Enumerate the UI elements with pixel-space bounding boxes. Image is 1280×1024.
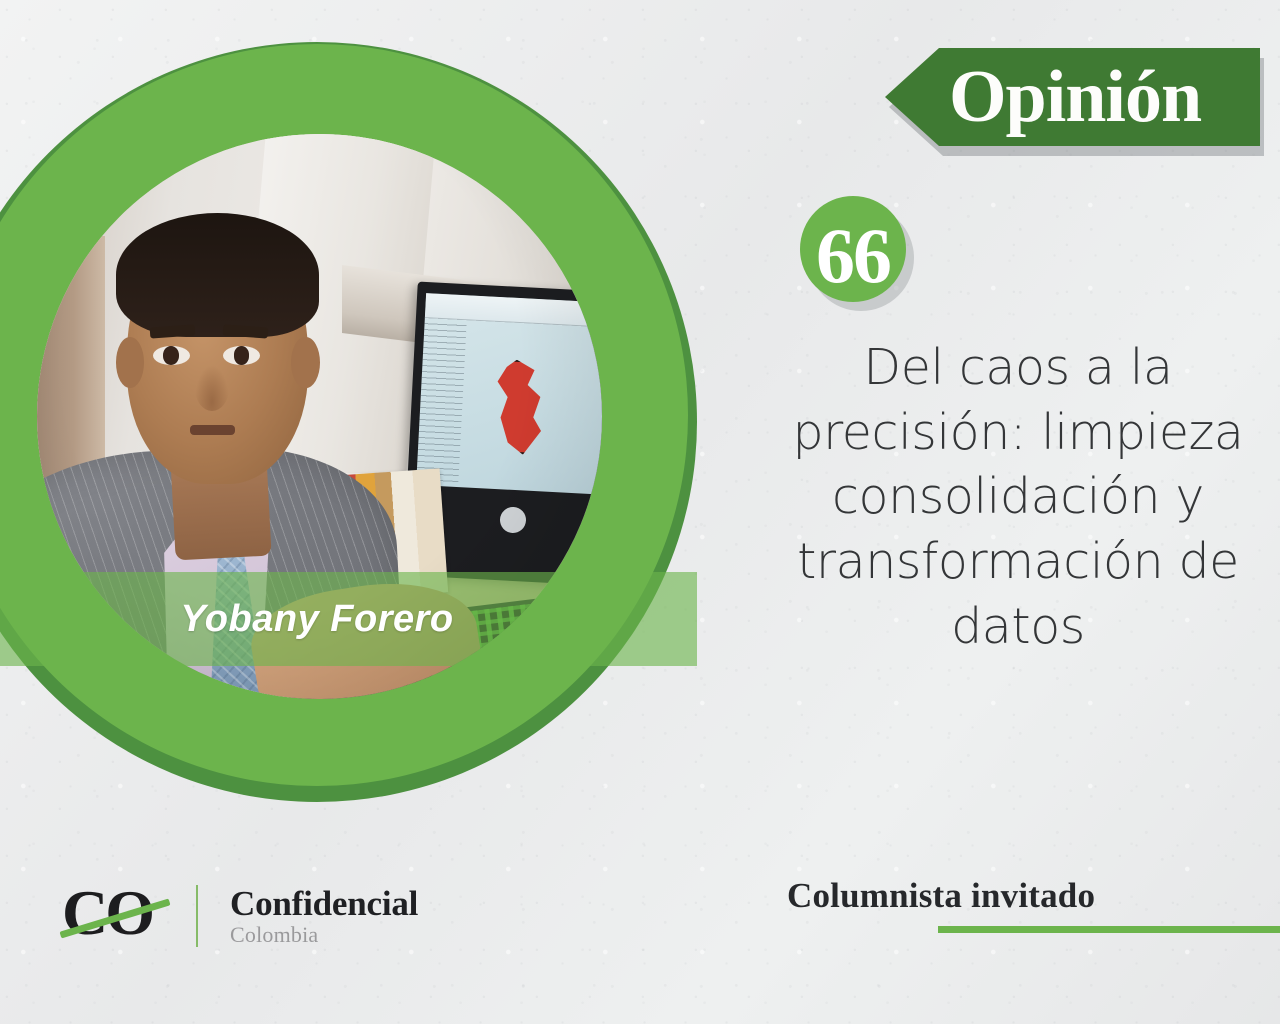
brand-monogram: CO — [62, 885, 172, 947]
opinion-ribbon-body: Opinión — [885, 48, 1260, 146]
brand-logo: CO Confidencial Colombia — [62, 878, 418, 954]
columnist-underline — [938, 926, 1280, 933]
brand-name: Confidencial — [230, 886, 418, 921]
opinion-ribbon-label: Opinión — [885, 60, 1201, 134]
author-photo-circle: Yobany Forero — [0, 42, 697, 802]
brand-wordmark: Confidencial Colombia — [230, 886, 418, 946]
quote-icon: 66 — [800, 196, 906, 302]
brand-subtitle: Colombia — [230, 924, 418, 946]
author-name-band: Yobany Forero — [0, 572, 697, 666]
brand-divider — [196, 885, 198, 947]
columnist-footer: Columnista invitado — [787, 876, 1280, 916]
columnist-label: Columnista invitado — [787, 876, 1280, 916]
opinion-ribbon: Opinión — [885, 48, 1260, 146]
opinion-card: Yobany Forero Opinión 66 Del caos a la p… — [0, 0, 1280, 1024]
author-name: Yobany Forero — [180, 598, 453, 641]
headline: Del caos a la precisión: limpieza consol… — [760, 336, 1276, 659]
